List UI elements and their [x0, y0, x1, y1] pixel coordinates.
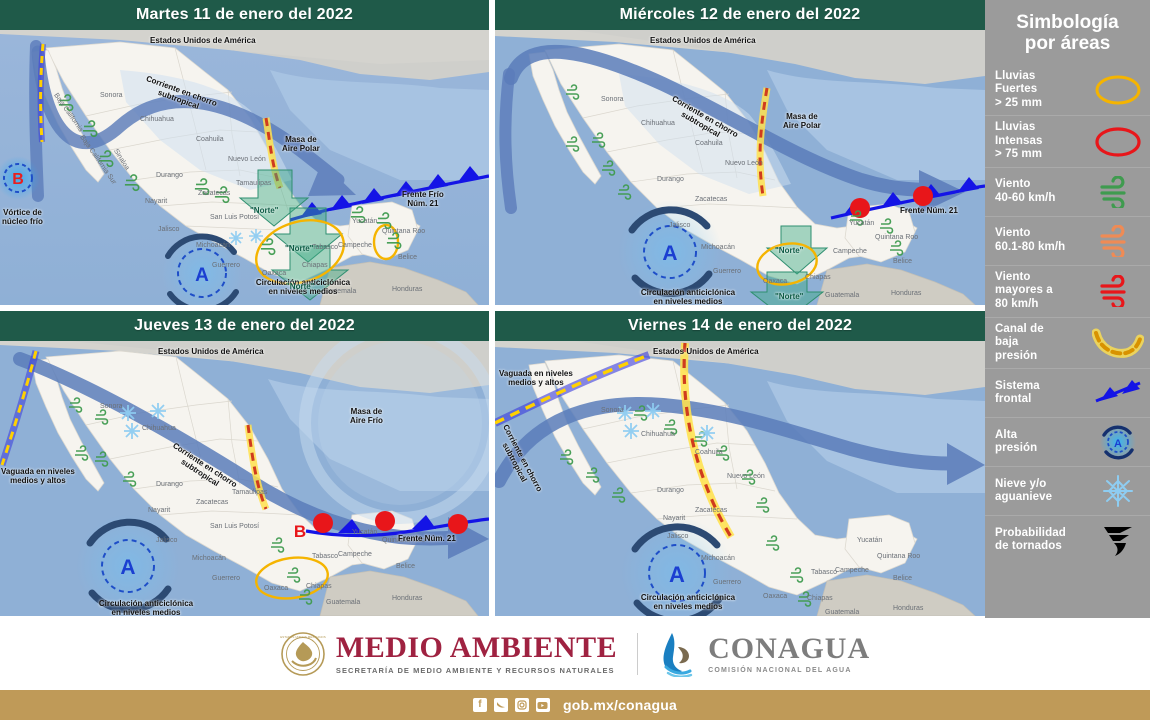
state-label: Michoacán — [192, 555, 226, 562]
state-label: Zacatecas — [695, 196, 727, 203]
map-label-cold-core-vortex: Vórtice de núcleo frío — [2, 208, 43, 226]
legend-item-label: Probabilidad de tornados — [995, 527, 1092, 554]
legend-item-label: Lluvias Fuertes > 25 mm — [995, 70, 1092, 111]
state-label: Belice — [893, 258, 912, 265]
state-label: Honduras — [893, 605, 923, 612]
semarnat-subtitle: SECRETARÍA DE MEDIO AMBIENTE Y RECURSOS … — [336, 666, 617, 675]
state-label: Yucatán — [857, 537, 882, 544]
svg-text:A: A — [120, 556, 135, 579]
state-label: Oaxaca — [763, 593, 787, 600]
svg-text:B: B — [12, 171, 24, 188]
conagua-text: CONAGUA COMISIÓN NACIONAL DEL AGUA — [708, 634, 870, 674]
state-label: Nayarit — [148, 507, 170, 514]
state-label: Yucatán — [352, 529, 377, 536]
youtube-icon[interactable] — [536, 698, 550, 712]
state-label: Campeche — [338, 551, 372, 558]
semarnat-text: MEDIO AMBIENTE SECRETARÍA DE MEDIO AMBIE… — [336, 633, 617, 675]
state-label: Zacatecas — [695, 507, 727, 514]
map-miercoles[interactable]: A Estados Unidos de América Corrient — [495, 30, 985, 305]
state-label: Sonora — [100, 92, 123, 99]
state-label: Nayarit — [145, 198, 167, 205]
state-label: Quintana Roo — [875, 234, 918, 241]
state-label: Chihuahua — [140, 116, 174, 123]
state-label: Jalisco — [667, 533, 688, 540]
gob-url-label[interactable]: gob.mx/conagua — [563, 697, 677, 713]
forecast-panel-jueves[interactable]: Jueves 13 de enero del 2022 — [0, 311, 489, 616]
state-label: Guerrero — [713, 579, 741, 586]
high-pressure-icon: A — [1092, 423, 1144, 461]
state-label: Chihuahua — [142, 425, 176, 432]
map-label-front-number: Frente Núm. 21 — [398, 534, 456, 543]
state-label: Durango — [156, 481, 183, 488]
map-label-norte-2: "Norte" — [285, 244, 313, 253]
ellipse-outline-icon — [1092, 71, 1144, 109]
map-jueves[interactable]: B A — [0, 341, 489, 616]
forecast-panel-viernes[interactable]: Viernes 14 de enero del 2022 — [495, 311, 985, 616]
footer-brandbar: ESTADOS UNIDOS MEXICANOS MEDIO AMBIENTE … — [0, 618, 1150, 690]
state-label: Oaxaca — [763, 278, 787, 285]
state-label: Zacatecas — [196, 499, 228, 506]
state-label: Oaxaca — [262, 270, 286, 277]
legend-title-line1: Simbología — [991, 12, 1144, 33]
svg-text:A: A — [195, 265, 209, 286]
state-label: Michoacán — [701, 244, 735, 251]
legend-item-viento-40-60[interactable]: Viento 40-60 km/h — [985, 167, 1150, 216]
state-label: Campeche — [833, 248, 867, 255]
svg-text:A: A — [669, 562, 685, 587]
state-label: Chiapas — [807, 595, 833, 602]
map-label-usa: Estados Unidos de América — [158, 347, 264, 356]
svg-text:ESTADOS UNIDOS MEXICANOS: ESTADOS UNIDOS MEXICANOS — [280, 635, 325, 639]
state-label: Guatemala — [825, 609, 859, 616]
state-label: Guatemala — [825, 292, 859, 299]
state-label: Chihuahua — [641, 120, 675, 127]
state-label: Yucatán — [849, 220, 874, 227]
map-label-usa: Estados Unidos de América — [653, 347, 759, 356]
legend-item-label: Nieve y/o aguanieve — [995, 478, 1092, 505]
legend-item-label: Canal de baja presión — [995, 323, 1092, 364]
state-label: Nayarit — [663, 515, 685, 522]
map-label-trough: Vaguada en niveles medios y altos — [499, 369, 573, 387]
state-label: Chiapas — [306, 583, 332, 590]
map-label-anticyclonic-circulation: Circulación anticiclónica en niveles med… — [613, 288, 763, 305]
legend-item-canal-baja-presion[interactable]: Canal de baja presión — [985, 317, 1150, 369]
mexico-coat-of-arms-icon: ESTADOS UNIDOS MEXICANOS — [280, 631, 326, 677]
state-label: Guatemala — [326, 599, 360, 606]
map-label-norte-1: "Norte" — [250, 206, 278, 215]
facebook-icon[interactable]: f — [473, 698, 487, 712]
footer-social-bar: f gob.mx/conagua — [0, 690, 1150, 720]
state-label: Belice — [398, 254, 417, 261]
instagram-icon[interactable] — [515, 698, 529, 712]
state-label: Quintana Roo — [877, 553, 920, 560]
svg-text:A: A — [662, 242, 677, 265]
state-label: Guerrero — [212, 262, 240, 269]
map-martes[interactable]: B — [0, 30, 489, 305]
state-label: Coahuila — [196, 136, 224, 143]
legend-panel: Simbología por áreas Lluvias Fuertes > 2… — [985, 0, 1150, 618]
twitter-icon[interactable] — [494, 698, 508, 712]
state-label: Sonora — [601, 407, 624, 414]
wind-icon — [1092, 272, 1144, 310]
state-label: Guerrero — [212, 575, 240, 582]
conagua-water-icon — [658, 631, 700, 677]
legend-title-line2: por áreas — [991, 33, 1144, 54]
svg-text:B: B — [294, 522, 306, 541]
legend-items-list: Lluvias Fuertes > 25 mm Lluvias Intensas… — [985, 65, 1150, 565]
state-label: Tamaulipas — [232, 489, 267, 496]
semarnat-title: MEDIO AMBIENTE — [336, 633, 617, 663]
map-label-norte-2: "Norte" — [775, 292, 803, 301]
state-label: Honduras — [891, 290, 921, 297]
map-label-polar-air-mass: Masa de Aire Polar — [282, 135, 320, 153]
state-label: Chihuahua — [641, 431, 675, 438]
legend-item-nieve-aguanieve[interactable]: Nieve y/o aguanieve — [985, 466, 1150, 515]
map-label-cold-front: Frente Frío Núm. 21 — [402, 190, 444, 208]
state-label: Nuevo León — [725, 160, 763, 167]
state-label: Michoacán — [196, 242, 230, 249]
state-label: Guerrero — [713, 268, 741, 275]
state-label: Chiapas — [302, 262, 328, 269]
map-label-anticyclonic-circulation: Circulación anticiclónica en niveles med… — [66, 599, 226, 616]
map-label-front-number: Frente Núm. 21 — [900, 206, 958, 215]
map-label-usa: Estados Unidos de América — [650, 36, 756, 45]
state-label: Nuevo León — [228, 156, 266, 163]
state-label: Jalisco — [669, 222, 690, 229]
wind-icon — [1092, 222, 1144, 260]
state-label: Belice — [396, 563, 415, 570]
legend-item-viento-mayores-80[interactable]: Viento mayores a 80 km/h — [985, 265, 1150, 317]
legend-item-label: Viento 60.1-80 km/h — [995, 227, 1092, 254]
legend-item-lluvias-intensas[interactable]: Lluvias Intensas > 75 mm — [985, 115, 1150, 167]
state-label: Tabasco — [312, 553, 338, 560]
state-label: Michoacán — [701, 555, 735, 562]
trough-dashed-icon — [1092, 324, 1144, 362]
forecast-panels-area: Martes 11 de enero del 2022 — [0, 0, 985, 618]
legend-item-label: Viento 40-60 km/h — [995, 178, 1092, 205]
map-label-norte-1: "Norte" — [775, 246, 803, 255]
state-label: Honduras — [392, 286, 422, 293]
legend-item-label: Alta presión — [995, 429, 1092, 456]
map-label-usa: Estados Unidos de América — [150, 36, 256, 45]
state-label: San Luis Potosí — [210, 523, 259, 530]
state-label: Jalisco — [156, 537, 177, 544]
map-label-trough: Vaguada en niveles medios y altos — [1, 467, 75, 485]
legend-item-probabilidad-tornados[interactable]: Probabilidad de tornados — [985, 515, 1150, 564]
legend-item-label: Lluvias Intensas > 75 mm — [995, 121, 1092, 162]
panel-title-miercoles: Miércoles 12 de enero del 2022 — [495, 0, 985, 30]
state-label: Quintana Roo — [382, 228, 425, 235]
legend-item-sistema-frontal[interactable]: Sistema frontal — [985, 368, 1150, 417]
state-label: Sonora — [601, 96, 624, 103]
state-label: Nuevo León — [727, 473, 765, 480]
legend-item-lluvias-fuertes[interactable]: Lluvias Fuertes > 25 mm — [985, 65, 1150, 116]
panel-title-viernes: Viernes 14 de enero del 2022 — [495, 311, 985, 341]
state-label: Chiapas — [805, 274, 831, 281]
brand-row: ESTADOS UNIDOS MEXICANOS MEDIO AMBIENTE … — [280, 631, 870, 677]
conagua-subtitle: COMISIÓN NACIONAL DEL AGUA — [708, 667, 870, 674]
state-label: Yucatán — [352, 218, 377, 225]
legend-item-alta-presion[interactable]: Alta presión A — [985, 417, 1150, 466]
semarnat-logo-block: ESTADOS UNIDOS MEXICANOS MEDIO AMBIENTE … — [280, 631, 617, 677]
legend-item-label: Sistema frontal — [995, 380, 1092, 407]
state-label: Belice — [893, 575, 912, 582]
map-label-polar-air-mass: Masa de Aire Polar — [783, 112, 821, 130]
state-label: Coahuila — [695, 140, 723, 147]
map-label-norte-3: "Norte" — [286, 282, 314, 291]
svg-text:A: A — [1114, 438, 1122, 450]
cold-front-icon — [1092, 374, 1144, 412]
conagua-title: CONAGUA — [708, 634, 870, 664]
state-label: Oaxaca — [264, 585, 288, 592]
panel-title-jueves: Jueves 13 de enero del 2022 — [0, 311, 489, 341]
brand-divider — [637, 633, 638, 675]
tornado-icon — [1092, 521, 1144, 559]
state-label: Honduras — [392, 595, 422, 602]
map-label-anticyclonic-circulation: Circulación anticiclónica en niveles med… — [613, 593, 763, 611]
state-label: Campeche — [835, 567, 869, 574]
ellipse-outline-icon — [1092, 123, 1144, 161]
state-label: Durango — [156, 172, 183, 179]
forecast-panel-miercoles[interactable]: Miércoles 12 de enero del 2022 — [495, 0, 985, 305]
state-label: Durango — [657, 487, 684, 494]
state-label: Tamaulipas — [236, 180, 271, 187]
conagua-logo-block: CONAGUA COMISIÓN NACIONAL DEL AGUA — [658, 631, 870, 677]
legend-item-viento-60-80[interactable]: Viento 60.1-80 km/h — [985, 216, 1150, 265]
state-label: Jalisco — [158, 226, 179, 233]
state-label: Campeche — [338, 242, 372, 249]
legend-title: Simbología por áreas — [985, 8, 1150, 65]
forecast-panel-martes[interactable]: Martes 11 de enero del 2022 — [0, 0, 489, 305]
state-label: Coahuila — [695, 449, 723, 456]
state-label: Zacatecas — [198, 190, 230, 197]
wind-icon — [1092, 173, 1144, 211]
infographic-root: Martes 11 de enero del 2022 — [0, 0, 1150, 720]
snowflake-icon — [1092, 472, 1144, 510]
map-viernes[interactable]: A — [495, 341, 985, 616]
state-label: Durango — [657, 176, 684, 183]
state-label: Tabasco — [811, 569, 837, 576]
map-label-cold-air-mass: Masa de Aire Frío — [350, 407, 383, 425]
state-label: Sonora — [100, 403, 123, 410]
legend-item-label: Viento mayores a 80 km/h — [995, 271, 1092, 312]
state-label: Tabasco — [312, 244, 338, 251]
panel-title-martes: Martes 11 de enero del 2022 — [0, 0, 489, 30]
